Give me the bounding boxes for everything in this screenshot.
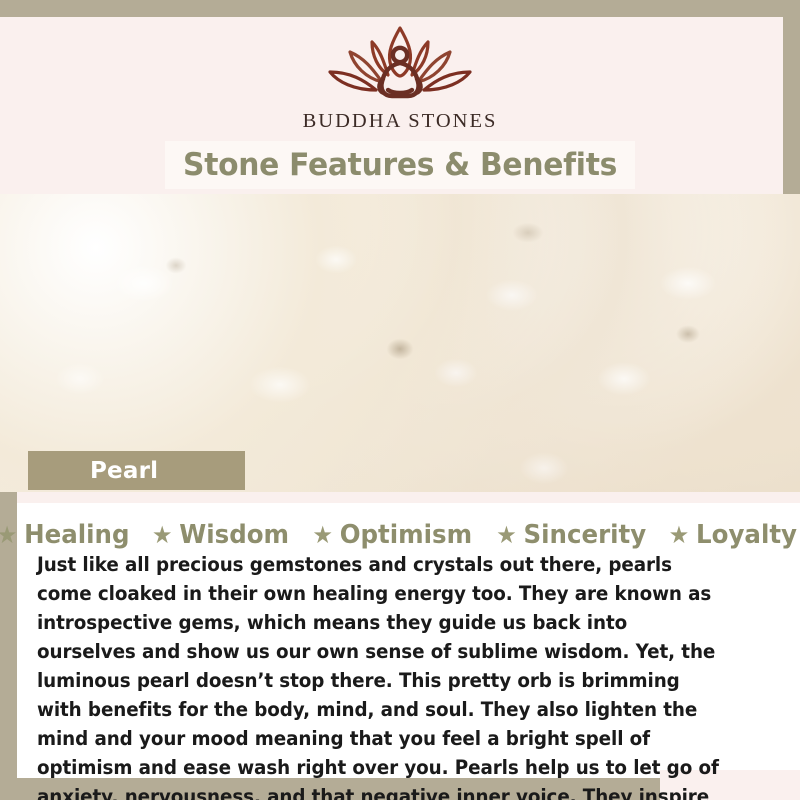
page-title: Stone Features & Benefits xyxy=(183,147,617,183)
benefit-label: Sincerity xyxy=(523,520,646,550)
pearl-photo xyxy=(0,194,800,492)
benefit-item: ★ Loyalty xyxy=(669,520,797,550)
brand-wordmark: BUDDHA STONES xyxy=(303,110,498,133)
benefit-item: ★ Optimism xyxy=(313,520,473,550)
stone-name: Pearl xyxy=(90,458,158,484)
benefit-label: Optimism xyxy=(340,520,472,550)
star-icon: ★ xyxy=(313,523,334,547)
star-icon: ★ xyxy=(496,523,517,547)
brand-logo: BUDDHA STONES xyxy=(0,22,800,140)
star-icon: ★ xyxy=(669,523,690,547)
stone-name-banner: Pearl xyxy=(28,451,245,490)
page-title-band: Stone Features & Benefits xyxy=(165,141,635,189)
benefit-label: Loyalty xyxy=(696,520,797,550)
pearl-photo-shadows xyxy=(0,194,800,492)
benefit-item: ★ Wisdom xyxy=(152,520,289,550)
star-icon: ★ xyxy=(0,523,18,547)
benefit-label: Healing xyxy=(24,520,129,550)
benefit-label: Wisdom xyxy=(180,520,290,550)
card-top-sliver xyxy=(17,492,800,503)
lotus-meditation-icon xyxy=(320,22,480,108)
star-icon: ★ xyxy=(152,523,173,547)
infographic-page: BUDDHA STONES Stone Features & Benefits … xyxy=(0,0,800,800)
stone-description: Just like all precious gemstones and cry… xyxy=(37,550,727,800)
benefit-item: ★ Sincerity xyxy=(496,520,646,550)
benefit-item: ★ Healing xyxy=(0,520,130,550)
benefits-list: ★ Healing ★ Wisdom ★ Optimism ★ Sincerit… xyxy=(17,515,777,555)
